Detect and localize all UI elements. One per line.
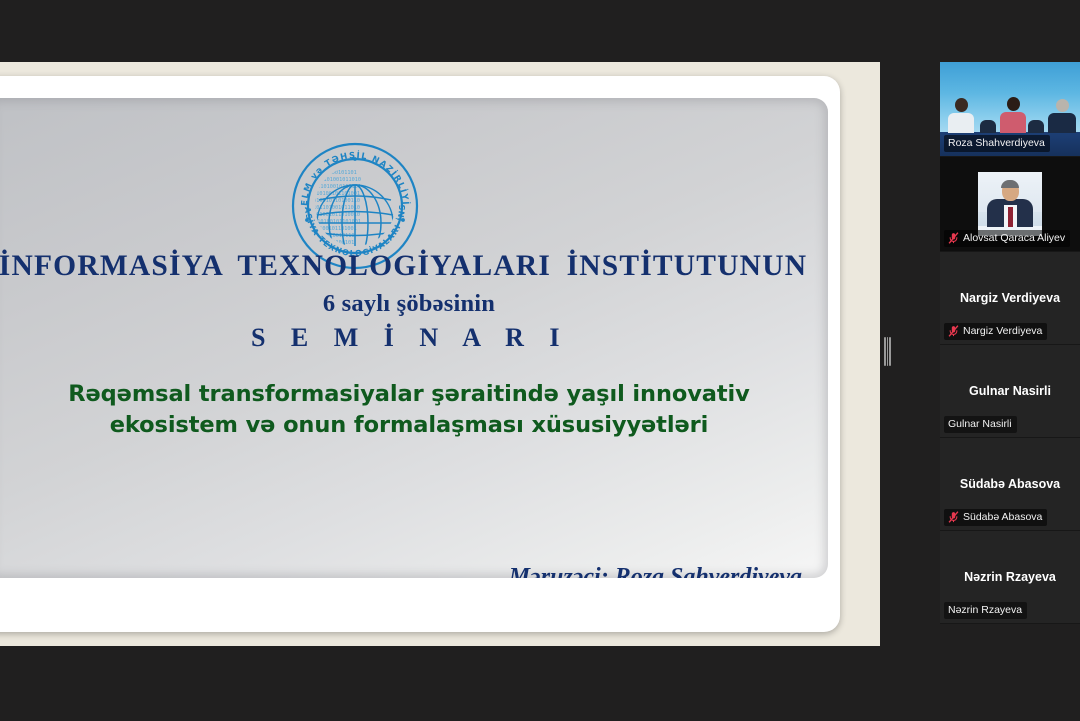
- participant-name-overlay: Gulnar Nasirli: [944, 416, 1017, 433]
- participant-name-overlay: Südabə Abasova: [944, 509, 1047, 526]
- mic-muted-icon: [948, 325, 959, 337]
- participant-name-overlay: Alovsat Qaraca Aliyev: [944, 230, 1070, 247]
- participant-tile-roza-shahverdiyeva[interactable]: Roza Shahverdiyeva: [940, 62, 1080, 157]
- participant-display-name: Nargiz Verdiyeva: [940, 291, 1080, 305]
- participant-display-name: Nəzrin Rzayeva: [940, 570, 1080, 584]
- participant-display-name: Südabə Abasova: [940, 477, 1080, 491]
- svg-text:0101101001011010: 0101101001011010: [310, 205, 360, 211]
- participant-name: Nargiz Verdiyeva: [963, 324, 1042, 338]
- slide-subtitle: Rəqəmsal transformasiyalar şəraitində ya…: [50, 379, 768, 441]
- participant-name: Roza Shahverdiyeva: [948, 136, 1045, 150]
- participant-name: Alovsat Qaraca Aliyev: [963, 231, 1065, 245]
- slide-title-line-2: 6 saylı şöbəsinin: [0, 290, 828, 318]
- participant-name: Nəzrin Rzayeva: [948, 603, 1022, 617]
- mic-muted-icon: [948, 511, 959, 523]
- participant-name-overlay: Nargiz Verdiyeva: [944, 323, 1047, 340]
- slide-content-area: 10110100101101 0101101001011010 10110100…: [0, 98, 828, 578]
- mic-muted-icon: [948, 232, 959, 244]
- participant-tile-sudabe-abasova[interactable]: Südabə Abasova Südabə Abasova: [940, 438, 1080, 531]
- participant-tile-nezrin-rzayeva[interactable]: Nəzrin Rzayeva Nəzrin Rzayeva: [940, 531, 1080, 624]
- participant-tile-alovsat-qaraca-aliyev[interactable]: Alovsat Qaraca Aliyev: [940, 157, 1080, 252]
- participant-display-name: Gulnar Nasirli: [940, 384, 1080, 398]
- participant-name-overlay: Nəzrin Rzayeva: [944, 602, 1027, 619]
- grip-line: [884, 337, 886, 366]
- grip-line: [889, 337, 891, 366]
- participants-video-strip[interactable]: Roza Shahverdiyeva: [940, 62, 1080, 646]
- participant-name: Südabə Abasova: [963, 510, 1042, 524]
- slide-presenter: Məruzəçi: Roza Şahverdiyeva: [509, 564, 802, 578]
- screen-share-region[interactable]: 10110100101101 0101101001011010 10110100…: [0, 62, 880, 646]
- slide-paper: 10110100101101 0101101001011010 10110100…: [0, 76, 840, 632]
- participant-name: Gulnar Nasirli: [948, 417, 1012, 431]
- panel-resize-handle[interactable]: [884, 337, 891, 366]
- slide-title-line-3: S E M İ N A R I: [0, 323, 828, 353]
- slide-title-line-1: İNFORMASİYA TEXNOLOGİYALARI İNSTİTUTUNUN: [0, 250, 822, 283]
- svg-text:0110100101101001: 0110100101101001: [311, 219, 361, 225]
- participant-tile-gulnar-nasirli[interactable]: Gulnar Nasirli Gulnar Nasirli: [940, 345, 1080, 438]
- grip-line: [887, 337, 889, 366]
- participant-tile-nargiz-verdiyeva[interactable]: Nargiz Verdiyeva Nargiz Verdiyeva: [940, 252, 1080, 345]
- participant-name-overlay: Roza Shahverdiyeva: [944, 135, 1050, 152]
